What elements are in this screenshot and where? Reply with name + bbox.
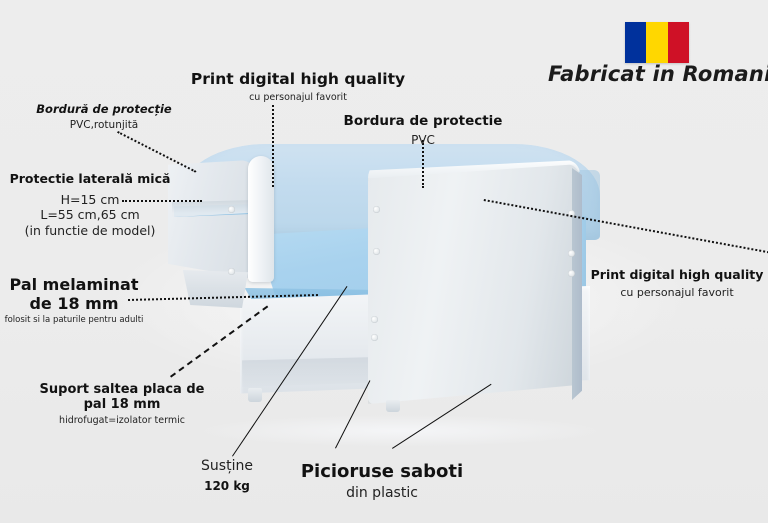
leader-print-top (272, 105, 274, 187)
flag-stripe-red (668, 22, 689, 63)
callout-picioruse: Picioruse saboti din plastic (276, 461, 488, 503)
cam-screw-icon (228, 206, 235, 213)
callout-bordura-stanga-title: Bordură de protecție (24, 103, 184, 117)
callout-sustine-subtitle: 120 kg (168, 479, 286, 493)
callout-bordura-dreapta: Bordura de protectie PVC (332, 114, 514, 148)
bed-illustration (168, 138, 628, 418)
callout-bordura-stanga-subtitle: PVC,rotunjită (24, 119, 184, 132)
callout-pal-melaminat-line2: de 18 mm (0, 295, 148, 314)
cam-screw-icon (228, 268, 235, 275)
callout-print-dreapta-title: Print digital high quality (586, 268, 768, 283)
callout-sustine: Susține 120 kg (168, 458, 286, 493)
cam-screw-icon (373, 206, 380, 213)
cam-screw-icon (568, 250, 575, 257)
infographic-canvas: Fabricat in Romania (0, 0, 768, 523)
callout-suport-saltea-line1: Suport saltea placa de (14, 382, 230, 397)
callout-protectie-laterala-title: Protectie laterală mică (6, 172, 174, 187)
cam-screw-icon (371, 316, 378, 323)
callout-print-top-title: Print digital high quality (178, 70, 418, 88)
callout-bordura-dreapta-subtitle: PVC (332, 133, 514, 148)
bed-foot-mid (386, 400, 400, 412)
callout-protectie-laterala-line2: L=55 cm,65 cm (6, 207, 174, 223)
callout-sustine-title: Susține (168, 458, 286, 476)
callout-picioruse-subtitle: din plastic (276, 485, 488, 503)
callout-protectie-laterala-line3: (in functie de model) (6, 223, 174, 239)
callout-pal-melaminat-subtitle: folosit si la paturile pentru adulti (0, 315, 148, 326)
bed-headboard-panel (368, 164, 580, 404)
callout-pal-melaminat: Pal melaminat de 18 mm folosit si la pat… (0, 276, 148, 325)
cam-screw-icon (371, 334, 378, 341)
flag-stripe-blue (625, 22, 646, 63)
bed-guard-leg (174, 270, 248, 308)
callout-bordura-dreapta-title: Bordura de protectie (332, 114, 514, 130)
cam-screw-icon (568, 270, 575, 277)
bed-headboard-side-edge (572, 168, 582, 400)
bed-foot-left (248, 388, 262, 402)
flag-stripe-yellow (646, 22, 667, 63)
callout-suport-saltea-subtitle: hidrofugat=izolator termic (14, 415, 230, 427)
callout-print-top: Print digital high quality cu personajul… (178, 70, 418, 104)
bed-guard-post (248, 156, 274, 282)
romania-flag-icon (625, 22, 689, 63)
callout-picioruse-title: Picioruse saboti (276, 461, 488, 482)
callout-bordura-stanga: Bordură de protecție PVC,rotunjită (24, 103, 184, 132)
callout-print-top-subtitle: cu personajul favorit (178, 92, 418, 104)
made-in-romania-title: Fabricat in Romania (548, 62, 762, 86)
callout-protectie-laterala: Protectie laterală mică H=15 cm L=55 cm,… (6, 172, 174, 239)
cam-screw-icon (373, 248, 380, 255)
callout-suport-saltea-line2: pal 18 mm (14, 397, 230, 412)
callout-pal-melaminat-line1: Pal melaminat (0, 276, 148, 295)
callout-print-dreapta: Print digital high quality cu personajul… (586, 268, 768, 300)
callout-print-dreapta-subtitle: cu personajul favorit (586, 286, 768, 300)
callout-protectie-laterala-line1: H=15 cm (6, 192, 174, 208)
callout-suport-saltea: Suport saltea placa de pal 18 mm hidrofu… (14, 382, 230, 427)
